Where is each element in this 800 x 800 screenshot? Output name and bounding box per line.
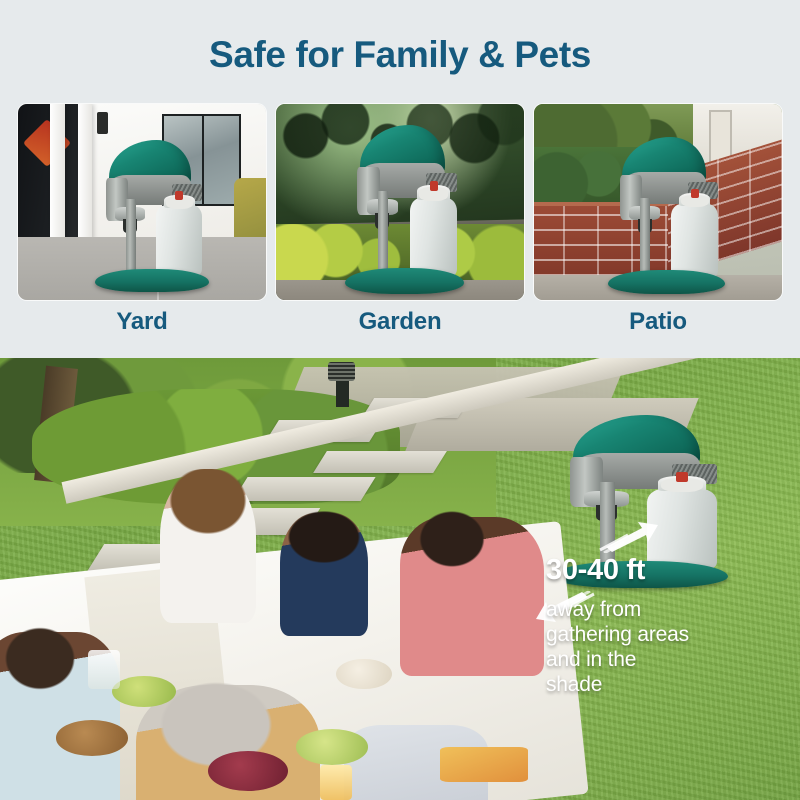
garden-lamp-icon	[328, 362, 355, 381]
stepping-stone	[313, 451, 447, 473]
person-man-head	[416, 508, 488, 570]
food-salad-dish	[440, 747, 528, 782]
garden-scene-image	[276, 104, 524, 300]
scene-card-row	[18, 104, 782, 300]
food-wooden-bowl	[56, 720, 128, 755]
house-pillar-left	[50, 104, 65, 241]
person-woman-hair	[164, 469, 252, 540]
house-pillar-right	[78, 104, 93, 241]
tank-valve	[661, 478, 703, 492]
product-device-patio	[608, 133, 725, 294]
caption-yard: Yard	[18, 305, 266, 345]
scene-caption-row: Yard Garden Patio	[18, 305, 782, 345]
distance-description: away from gathering areas and in the sha…	[546, 597, 746, 697]
tank-valve	[166, 196, 193, 208]
juice-glass	[320, 765, 352, 800]
food-grapes	[296, 729, 368, 764]
product-marketing-image: Safe for Family & Pets	[0, 0, 800, 800]
device-base	[345, 268, 464, 294]
device-post	[640, 198, 650, 275]
top-gallery-section: Safe for Family & Pets	[0, 0, 800, 358]
caption-garden: Garden	[276, 305, 524, 345]
propane-tank	[410, 198, 458, 279]
device-post	[378, 191, 389, 274]
scene-card-yard[interactable]	[18, 104, 266, 300]
drink-glass	[88, 650, 120, 690]
wall-lamp-icon	[97, 112, 108, 134]
propane-tank	[156, 205, 202, 278]
distance-value: 30-40 ft	[546, 553, 796, 587]
distance-callout: 30-40 ft away from gathering areas and i…	[546, 553, 796, 697]
tank-valve	[681, 195, 709, 208]
yard-scene-image	[18, 104, 266, 300]
food-plate	[336, 659, 392, 690]
propane-tank	[671, 204, 718, 280]
product-device-yard	[95, 137, 209, 292]
device-base	[95, 269, 209, 292]
stepping-stone	[232, 477, 375, 501]
patio-scene-image	[534, 104, 782, 300]
product-device-garden	[345, 122, 464, 294]
food-grapes	[112, 676, 176, 707]
page-title: Safe for Family & Pets	[0, 34, 800, 76]
caption-patio: Patio	[534, 305, 782, 345]
device-post	[126, 199, 136, 273]
hero-lifestyle-image: 30-40 ft away from gathering areas and i…	[0, 358, 800, 800]
person-older-man-head	[0, 623, 80, 694]
tank-valve	[419, 187, 448, 201]
scene-card-garden[interactable]	[276, 104, 524, 300]
scene-card-patio[interactable]	[534, 104, 782, 300]
food-berry-tart	[208, 751, 288, 791]
person-boy-hair	[284, 508, 364, 565]
device-base	[608, 270, 725, 294]
